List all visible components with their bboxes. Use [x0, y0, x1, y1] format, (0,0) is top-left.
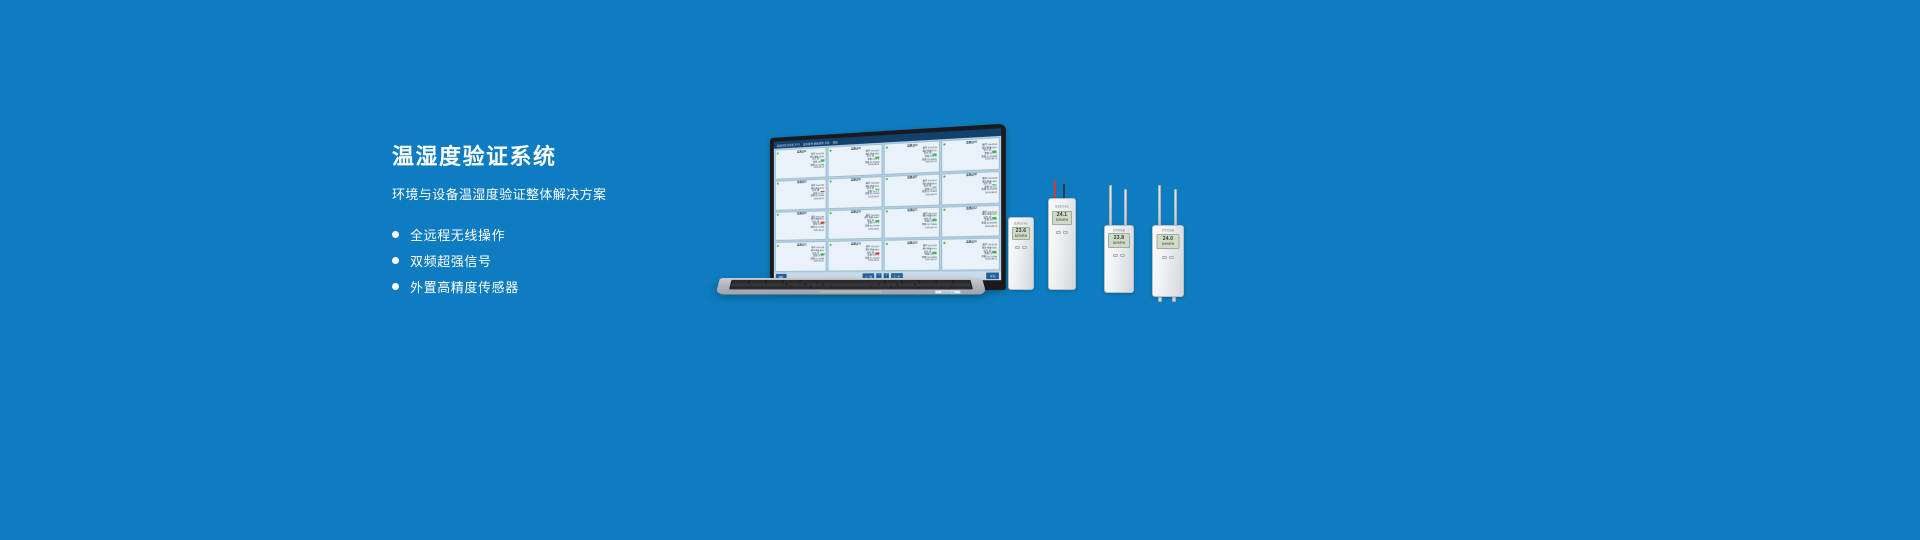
feature-label: 外置高精度传感器 [410, 277, 519, 296]
device-buttons[interactable] [1162, 256, 1174, 259]
sensor-cap [1061, 180, 1066, 183]
probe-antenna [1124, 189, 1127, 227]
status-dot-icon [830, 212, 832, 214]
product-banner: 温湿度验证系统 环境与设备温湿度验证整体解决方案 全远程无线操作 双频超强信号 … [0, 0, 1920, 540]
status-dot-icon [943, 242, 945, 244]
monitor-card-time: 2023-08-11 [833, 228, 879, 232]
probe-antenna [1174, 189, 1177, 227]
device-lcd: 23.6 52%RH [1012, 227, 1030, 240]
monitor-card[interactable]: 监测点09编号:TH-0109剩余电量:91%信号:弱温度:25.8℃湿度:56… [775, 210, 827, 241]
laptop-keyboard[interactable] [729, 280, 973, 289]
keyboard-key[interactable] [811, 287, 837, 288]
laptop-lid: 温湿度验证系统 V3.0 设备管理 数据管理 系统 帮助 监测点01编号:TH-… [770, 124, 1006, 290]
monitor-card-time: 2023-08-11 [833, 260, 879, 263]
device-body: 24.1 53%RH 温湿度记录仪 [1048, 198, 1076, 290]
monitor-card[interactable]: 监测点02编号:TH-0102剩余电量:98%信号:优温度:23.4℃湿度:51… [828, 144, 882, 177]
export-button[interactable]: 导出 [987, 272, 999, 279]
device-model-label: 温湿度记录仪 [1014, 221, 1028, 225]
status-dot-icon [777, 245, 779, 247]
feature-item-2: 双频超强信号 [392, 247, 712, 273]
app-topbar-help[interactable]: 帮助 [833, 140, 838, 144]
monitor-card-time: 2023-08-11 [833, 196, 879, 200]
feature-label: 全远程无线操作 [410, 225, 505, 244]
device-buttons[interactable] [1113, 254, 1125, 257]
bullet-dot-icon [392, 231, 399, 238]
monitor-card[interactable]: 监测点05编号:TH-0105剩余电量:92%信号:弱温度:25.3℃湿度:55… [775, 178, 827, 210]
lcd-humidity: 53%RH [1056, 219, 1068, 223]
status-dot-icon [885, 178, 887, 180]
monitor-card[interactable]: 监测点13编号:TH-0113剩余电量:89%信号:优温度:23.3℃湿度:51… [775, 241, 827, 272]
device-button[interactable] [1022, 246, 1027, 249]
device-buttons[interactable] [1015, 246, 1027, 249]
probe-antenna [1109, 185, 1112, 227]
keyboard-key[interactable] [865, 287, 891, 288]
monitor-card-time: 2023-08-11 [946, 259, 997, 262]
monitor-card[interactable]: 监测点07编号:TH-0107剩余电量:96%信号:优温度:23.7℃湿度:52… [883, 173, 940, 207]
device-lcd: 24.0 54%RH [1157, 234, 1180, 249]
status-dot-icon [777, 183, 779, 185]
laptop-base: 温湿度验证 [715, 278, 986, 295]
keyboard-row[interactable] [730, 287, 971, 288]
keyboard-key[interactable] [838, 287, 864, 288]
device-button[interactable] [1056, 231, 1061, 234]
keyboard-key[interactable] [892, 287, 918, 288]
status-dot-icon [885, 243, 887, 245]
monitor-card[interactable]: 监测点04编号:TH-0104剩余电量:95%信号:优温度:23.9℃湿度:52… [941, 137, 1000, 172]
keyboard-key[interactable] [918, 287, 944, 288]
laptop-trackpad[interactable] [819, 290, 883, 293]
device-lcd: 23.8 52%RH [1108, 233, 1130, 248]
feature-list: 全远程无线操作 双频超强信号 外置高精度传感器 [392, 221, 712, 299]
keyboard-key[interactable] [945, 287, 971, 288]
device-body: 24.0 54%RH 外置传感器 [1152, 225, 1184, 297]
banner-text-block: 温湿度验证系统 环境与设备温湿度验证整体解决方案 全远程无线操作 双频超强信号 … [392, 143, 712, 299]
monitor-card[interactable]: 监测点10编号:TH-0110剩余电量:100%信号:优温度:23.5℃湿度:5… [828, 208, 882, 240]
bullet-dot-icon [392, 257, 399, 264]
monitor-card[interactable]: 监测点01编号:TH-0101剩余电量:100%信号:优温度:23.6℃湿度:5… [775, 147, 827, 180]
app-topbar-menu[interactable]: 设备管理 数据管理 系统 [803, 140, 830, 146]
keyboard-key[interactable] [784, 287, 810, 288]
monitor-card-time: 2023-08-11 [780, 261, 824, 264]
page-subtitle: 环境与设备温湿度验证整体解决方案 [392, 185, 712, 204]
bullet-dot-icon [392, 283, 399, 290]
status-dot-icon [885, 211, 887, 213]
probe-antenna [1158, 185, 1161, 227]
device-button[interactable] [1162, 256, 1167, 259]
monitor-card-time: 2023-08-11 [946, 225, 997, 229]
laptop-sticker: 温湿度验证 [934, 290, 962, 294]
monitor-card[interactable]: 监测点14编号:TH-0114剩余电量:88%信号:弱温度:26.1℃湿度:57… [828, 240, 882, 271]
monitor-card-grid: 监测点01编号:TH-0101剩余电量:100%信号:优温度:23.6℃湿度:5… [774, 136, 1001, 273]
monitor-card[interactable]: 监测点08编号:TH-0108剩余电量:94%信号:良温度:24.0℃湿度:53… [941, 171, 1000, 205]
keyboard-key[interactable] [730, 287, 756, 288]
monitor-card-time: 2023-08-11 [888, 259, 936, 262]
monitor-card-time: 2023-08-11 [780, 229, 824, 233]
monitoring-app: 温湿度验证系统 V3.0 设备管理 数据管理 系统 帮助 监测点01编号:TH-… [774, 128, 1001, 281]
feature-item-1: 全远程无线操作 [392, 221, 712, 247]
device-model-label: 外置传感器 [1113, 228, 1125, 232]
monitor-card-time: 2023-08-11 [888, 194, 936, 198]
lcd-humidity: 52%RH [1015, 235, 1027, 239]
device-buttons[interactable] [1056, 231, 1068, 234]
monitor-card-time: 2023-08-11 [780, 198, 824, 202]
device-button[interactable] [1120, 254, 1125, 257]
status-dot-icon [777, 214, 779, 216]
monitor-card[interactable]: 监测点03编号:TH-0103剩余电量:97%信号:良温度:24.1℃湿度:53… [883, 140, 940, 174]
status-dot-icon [777, 152, 779, 154]
app-topbar-title: 温湿度验证系统 V3.0 [777, 142, 800, 147]
status-dot-icon [943, 209, 945, 211]
monitor-card[interactable]: 监测点06编号:TH-0106剩余电量:99%信号:优温度:23.2℃湿度:51… [828, 176, 882, 209]
sticker-label: 温湿度验证 [941, 290, 955, 293]
monitor-card-time: 2023-08-11 [946, 192, 997, 197]
status-dot-icon [943, 176, 945, 178]
device-model-label: 外置传感器 [1162, 228, 1174, 232]
page-title: 温湿度验证系统 [392, 143, 712, 171]
device-probe-1: 23.8 52%RH 外置传感器 [1104, 185, 1134, 293]
status-dot-icon [830, 181, 832, 183]
device-handheld-1: 23.6 52%RH 温湿度记录仪 [1008, 217, 1034, 290]
monitor-card[interactable]: 监测点11编号:TH-0111剩余电量:93%信号:优温度:23.8℃湿度:52… [883, 206, 940, 239]
external-sensor-probe [1158, 297, 1162, 302]
monitor-card[interactable]: 监测点15编号:TH-0115剩余电量:97%信号:优温度:23.6℃湿度:52… [883, 239, 940, 271]
status-dot-icon [885, 146, 887, 148]
lcd-humidity: 52%RH [1113, 242, 1125, 246]
laptop-product-image: 温湿度验证系统 V3.0 设备管理 数据管理 系统 帮助 监测点01编号:TH-… [720, 138, 990, 303]
device-lcd: 24.1 53%RH [1052, 211, 1072, 225]
monitor-card[interactable]: 监测点16编号:TH-0116剩余电量:95%信号:优温度:23.9℃湿度:53… [941, 238, 1000, 271]
monitor-card-time: 2023-08-11 [888, 227, 936, 231]
device-probe-2: 24.0 54%RH 外置传感器 [1152, 185, 1184, 297]
device-body: 23.6 52%RH 温湿度记录仪 [1008, 217, 1034, 290]
device-model-label: 温湿度记录仪 [1055, 204, 1069, 208]
device-button[interactable] [1015, 246, 1020, 249]
laptop-screen: 温湿度验证系统 V3.0 设备管理 数据管理 系统 帮助 监测点01编号:TH-… [774, 128, 1001, 281]
external-sensor-probe [1172, 297, 1176, 302]
status-dot-icon [830, 244, 832, 246]
lcd-humidity: 54%RH [1162, 243, 1174, 247]
sensor-device-group: 23.6 52%RH 温湿度记录仪 24.1 53%RH 温湿度记录仪 [1000, 175, 1230, 310]
device-button[interactable] [1063, 231, 1068, 234]
device-handheld-2: 24.1 53%RH 温湿度记录仪 [1048, 198, 1076, 290]
status-dot-icon [943, 143, 945, 145]
feature-label: 双频超强信号 [410, 251, 492, 270]
status-dot-icon [830, 149, 832, 151]
keyboard-key[interactable] [757, 287, 783, 288]
monitor-card[interactable]: 监测点12编号:TH-0112剩余电量:90%信号:良温度:24.3℃湿度:53… [941, 204, 1000, 238]
device-body: 23.8 52%RH 外置传感器 [1104, 225, 1134, 293]
device-button[interactable] [1169, 256, 1174, 259]
device-button[interactable] [1113, 254, 1118, 257]
feature-item-3: 外置高精度传感器 [392, 273, 712, 299]
